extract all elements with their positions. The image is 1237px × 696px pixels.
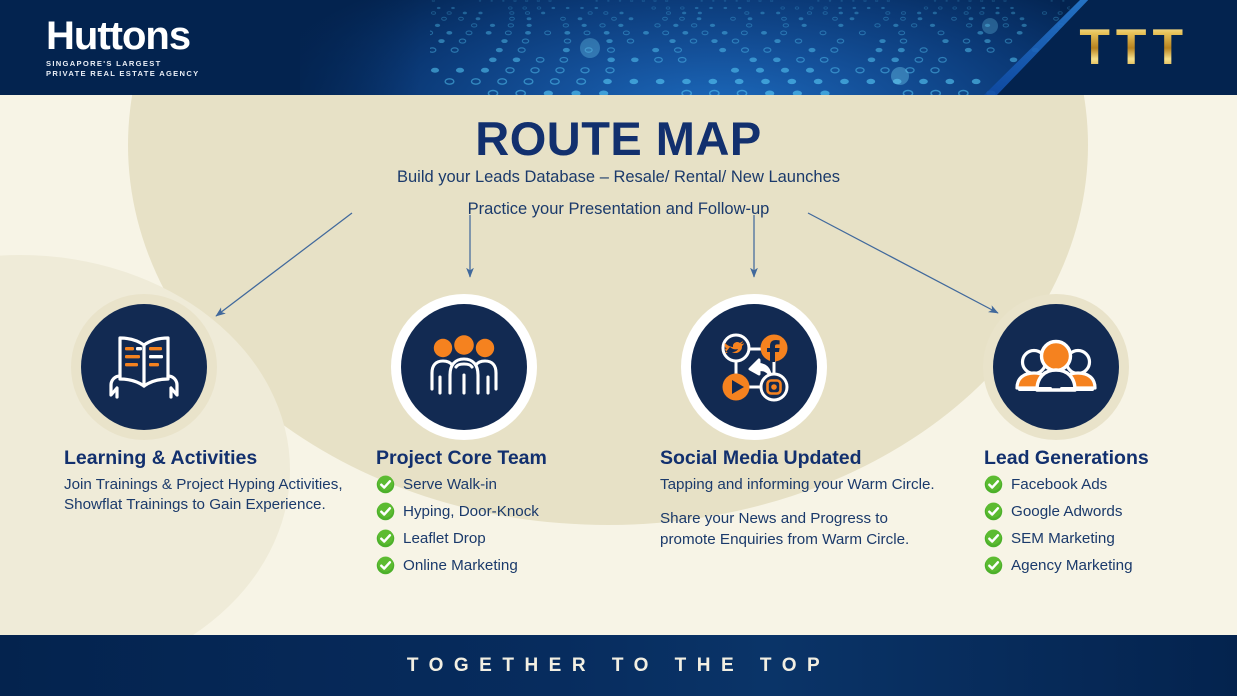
social-network-share-icon [712, 325, 796, 409]
ttt-brand-mark: TTT [1079, 22, 1189, 72]
list-item-label: Agency Marketing [1011, 557, 1133, 575]
check-circle-icon [984, 556, 1003, 575]
node-circle-2[interactable] [391, 294, 537, 440]
logo-tagline-line1: SINGAPORE'S LARGEST [46, 59, 326, 69]
column-2: Project Core Team Serve Walk-in Hyping, … [376, 447, 626, 575]
check-circle-icon [984, 529, 1003, 548]
node-ring-4 [983, 294, 1129, 440]
column-1: Learning & Activities Join Trainings & P… [64, 447, 364, 516]
node-disc-4 [993, 304, 1119, 430]
list-item[interactable]: Agency Marketing [984, 556, 1214, 575]
list-item-label: Google Adwords [1011, 503, 1122, 521]
check-circle-icon [984, 502, 1003, 521]
logo-tagline-line2: PRIVATE REAL ESTATE AGENCY [46, 69, 326, 79]
header-dots-layer [430, 0, 1070, 95]
check-circle-icon [376, 529, 395, 548]
list-item-label: Online Marketing [403, 557, 518, 575]
column-1-paragraph-1: Join Trainings & Project Hyping Activiti… [64, 475, 364, 515]
slide-footer: TOGETHER TO THE TOP [0, 635, 1237, 696]
column-3-paragraph-2: Share your News and Progress to promote … [660, 509, 935, 549]
column-3-heading: Social Media Updated [660, 447, 935, 470]
list-item[interactable]: Google Adwords [984, 502, 1214, 521]
footer-tagline: TOGETHER TO THE TOP [0, 635, 1237, 696]
people-group-icon [1014, 336, 1098, 398]
list-item-label: Hyping, Door-Knock [403, 503, 539, 521]
logo-wordmark: Huttons [46, 16, 326, 56]
check-circle-icon [376, 556, 395, 575]
slide-header: Huttons SINGAPORE'S LARGEST PRIVATE REAL… [0, 0, 1237, 95]
check-circle-icon [984, 475, 1003, 494]
list-item[interactable]: Online Marketing [376, 556, 626, 575]
node-disc-1 [81, 304, 207, 430]
arrow-to-column-1 [216, 213, 352, 316]
list-item-label: SEM Marketing [1011, 530, 1115, 548]
node-ring-1 [71, 294, 217, 440]
huttons-logo[interactable]: Huttons SINGAPORE'S LARGEST PRIVATE REAL… [46, 16, 326, 80]
node-disc-3 [691, 304, 817, 430]
book-in-hands-icon [103, 331, 185, 403]
node-circle-1[interactable] [71, 294, 217, 440]
check-circle-icon [376, 502, 395, 521]
list-item[interactable]: Hyping, Door-Knock [376, 502, 626, 521]
list-item[interactable]: SEM Marketing [984, 529, 1214, 548]
column-3-paragraph-1: Tapping and informing your Warm Circle. [660, 475, 935, 495]
list-item[interactable]: Facebook Ads [984, 475, 1214, 494]
list-item[interactable]: Leaflet Drop [376, 529, 626, 548]
check-circle-icon [376, 475, 395, 494]
logo-tagline: SINGAPORE'S LARGEST PRIVATE REAL ESTATE … [46, 59, 326, 80]
column-2-heading: Project Core Team [376, 447, 626, 470]
node-circle-4[interactable] [983, 294, 1129, 440]
node-ring-3 [681, 294, 827, 440]
column-1-heading: Learning & Activities [64, 447, 364, 470]
node-disc-2 [401, 304, 527, 430]
three-people-icon [425, 331, 503, 403]
column-3: Social Media Updated Tapping and informi… [660, 447, 935, 550]
arrow-to-column-4 [808, 213, 998, 313]
list-item-label: Facebook Ads [1011, 476, 1107, 494]
route-map-slide: Huttons SINGAPORE'S LARGEST PRIVATE REAL… [0, 0, 1237, 696]
slide-body: ROUTE MAP Build your Leads Database – Re… [0, 95, 1237, 635]
node-circle-3[interactable] [681, 294, 827, 440]
node-ring-2 [391, 294, 537, 440]
column-4-heading: Lead Generations [984, 447, 1214, 470]
list-item-label: Serve Walk-in [403, 476, 497, 494]
list-item-label: Leaflet Drop [403, 530, 486, 548]
list-item[interactable]: Serve Walk-in [376, 475, 626, 494]
column-4: Lead Generations Facebook Ads Google Adw… [984, 447, 1214, 575]
